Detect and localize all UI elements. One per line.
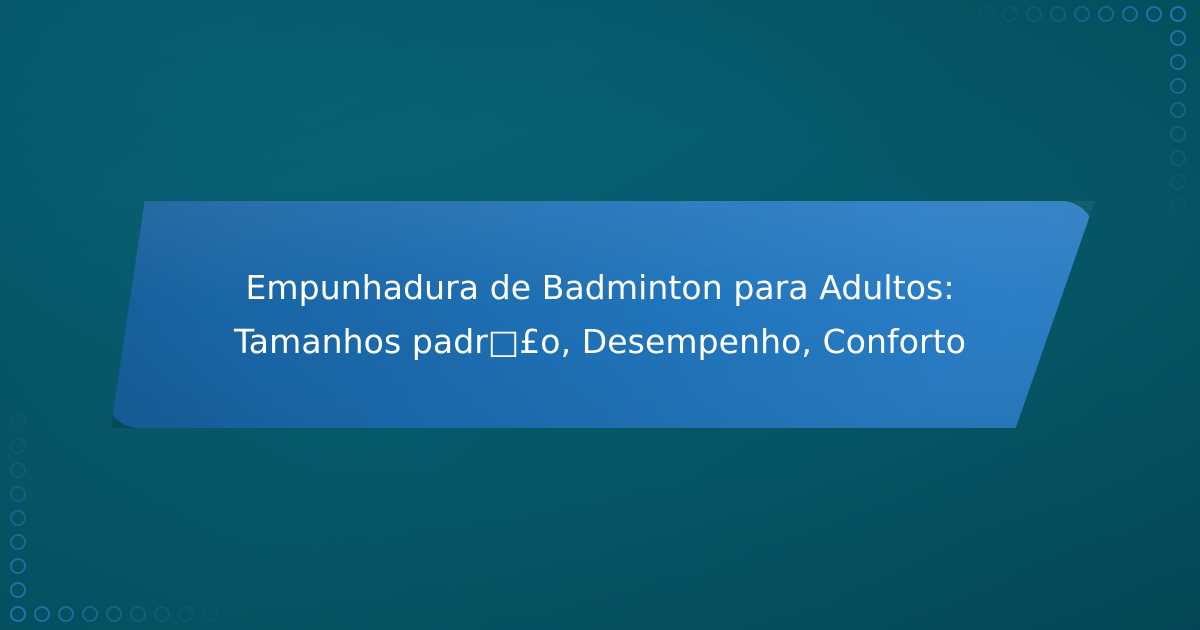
ring-dot-icon xyxy=(1170,150,1186,166)
ring-dot-icon xyxy=(10,438,26,454)
title-card: Empunhadura de Badminton para Adultos: T… xyxy=(105,201,1095,428)
page-title: Empunhadura de Badminton para Adultos: T… xyxy=(164,261,1036,368)
ring-dot-icon xyxy=(10,582,26,598)
title-card-container: Empunhadura de Badminton para Adultos: T… xyxy=(0,201,1200,428)
ring-dot-icon xyxy=(1170,30,1186,46)
ring-dot-icon xyxy=(130,606,146,622)
ring-dot-icon xyxy=(1170,54,1186,70)
ring-dot-icon xyxy=(178,606,194,622)
decoration-dots-top-right xyxy=(978,6,1186,22)
decoration-dots-bottom-row xyxy=(10,606,218,622)
ring-dot-icon xyxy=(82,606,98,622)
ring-dot-icon xyxy=(1170,78,1186,94)
ring-dot-icon xyxy=(1146,6,1162,22)
ring-dot-icon xyxy=(10,606,26,622)
ring-dot-icon xyxy=(58,606,74,622)
ring-dot-icon xyxy=(1170,6,1186,22)
ring-dot-icon xyxy=(1170,174,1186,190)
ring-dot-icon xyxy=(10,510,26,526)
ring-dot-icon xyxy=(978,6,994,22)
ring-dot-icon xyxy=(1098,6,1114,22)
ring-dot-icon xyxy=(10,486,26,502)
decoration-dots-bottom-left-column xyxy=(10,414,26,622)
ring-dot-icon xyxy=(1026,6,1042,22)
ring-dot-icon xyxy=(34,606,50,622)
decoration-dots-right-column xyxy=(1170,6,1186,214)
ring-dot-icon xyxy=(1122,6,1138,22)
ring-dot-icon xyxy=(1170,102,1186,118)
ring-dot-icon xyxy=(10,462,26,478)
ring-dot-icon xyxy=(1074,6,1090,22)
ring-dot-icon xyxy=(10,534,26,550)
title-card-canvas: Empunhadura de Badminton para Adultos: T… xyxy=(0,0,1200,630)
ring-dot-icon xyxy=(106,606,122,622)
ring-dot-icon xyxy=(154,606,170,622)
ring-dot-icon xyxy=(1050,6,1066,22)
ring-dot-icon xyxy=(1002,6,1018,22)
ring-dot-icon xyxy=(1170,126,1186,142)
ring-dot-icon xyxy=(10,558,26,574)
ring-dot-icon xyxy=(202,606,218,622)
